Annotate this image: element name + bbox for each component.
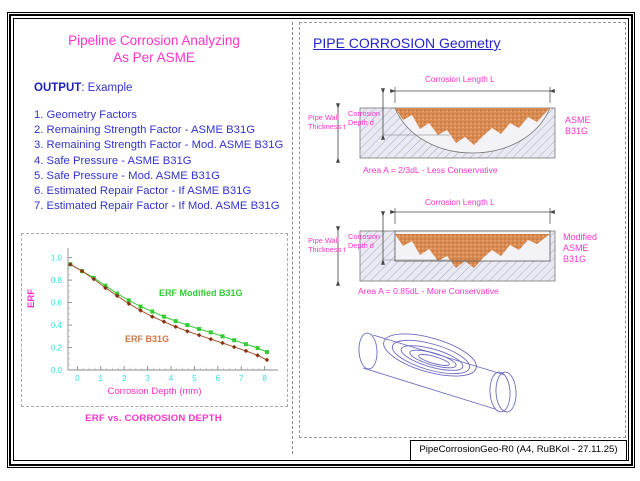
svg-text:0.4: 0.4	[51, 321, 63, 330]
svg-text:0.6: 0.6	[51, 299, 63, 308]
output-label: OUTPUT	[34, 82, 81, 94]
corrosion-length-label-2: Corrosion Length L	[425, 198, 495, 207]
standard-label-asme: ASME B31G	[565, 115, 591, 137]
svg-text:0: 0	[75, 374, 80, 383]
right-panel-title: PIPE CORROSION Geometry	[313, 35, 500, 51]
standard-label-modified-asme: Modified ASME B31G	[563, 232, 597, 265]
corrosion-depth-label-2: Corrosion Depth d	[348, 232, 380, 250]
svg-text:2: 2	[122, 374, 127, 383]
svg-text:5: 5	[192, 374, 197, 383]
chart-ylabel: ERF	[26, 289, 37, 308]
list-item: 6. Estimated Repair Factor - If ASME B31…	[34, 184, 294, 199]
output-heading: OUTPUT: Example	[34, 82, 132, 94]
page-title-line2: As Per ASME	[16, 49, 292, 66]
list-item: 7. Estimated Repair Factor - If Mod. ASM…	[34, 199, 294, 214]
svg-text:0.8: 0.8	[51, 276, 63, 285]
drawing-sheet: Pipeline Corrosion Analyzing As Per ASME…	[0, 0, 640, 481]
svg-text:3: 3	[145, 374, 150, 383]
right-panel: PIPE CORROSION Geometry	[299, 22, 626, 438]
list-item: 5. Safe Pressure - Mod. ASME B31G	[34, 169, 294, 184]
area-formula-caption-2: Area A = 0.85dL - More Conservative	[358, 286, 499, 296]
page-title: Pipeline Corrosion Analyzing As Per ASME	[16, 32, 292, 66]
chart-svg: 0.00.20.40.60.81.0012345678	[22, 234, 287, 406]
erf-chart: ERF Corrosion Depth (mm) ERF Modified B3…	[21, 233, 288, 407]
svg-text:1: 1	[99, 374, 104, 383]
title-block: PipeCorrosionGeo-R0 (A4, RuBKol - 27.11.…	[410, 440, 627, 461]
title-block-text: PipeCorrosionGeo-R0 (A4, RuBKol - 27.11.…	[411, 444, 626, 455]
svg-text:8: 8	[262, 374, 267, 383]
page-title-line1: Pipeline Corrosion Analyzing	[16, 32, 292, 49]
corrosion-length-label: Corrosion Length L	[425, 75, 495, 84]
wall-thickness-label-2: Pipe Wall Thickness t	[308, 236, 345, 254]
svg-text:0.0: 0.0	[51, 366, 63, 375]
svg-text:1.0: 1.0	[51, 254, 63, 263]
pipe-isometric-svg	[355, 313, 570, 433]
list-item: 2. Remaining Strength Factor - ASME B31G	[34, 123, 294, 138]
corrosion-depth-label: Corrosion Depth d	[348, 109, 380, 127]
corrosion-diagram-asme: Pipe Wall Thickness t Corrosion Depth d …	[300, 73, 625, 193]
left-column: Pipeline Corrosion Analyzing As Per ASME…	[16, 20, 292, 456]
series-label-b31g: ERF B31G	[125, 334, 169, 344]
svg-text:7: 7	[239, 374, 244, 383]
output-items-list: 1. Geometry Factors 2. Remaining Strengt…	[34, 108, 294, 214]
area-formula-caption: Area A = 2/3dL - Less Conservative	[363, 165, 498, 175]
chart-plot-area: ERF Corrosion Depth (mm) ERF Modified B3…	[22, 234, 287, 406]
wall-thickness-label: Pipe Wall Thickness t	[308, 113, 345, 131]
chart-xlabel: Corrosion Depth (mm)	[22, 386, 287, 397]
svg-text:0.2: 0.2	[51, 344, 63, 353]
pipe-isometric-illustration	[355, 313, 570, 433]
list-item: 3. Remaining Strength Factor - Mod. ASME…	[34, 138, 294, 153]
column-divider	[292, 22, 293, 454]
output-value: : Example	[81, 82, 132, 94]
corrosion-diagram-modified-asme: Pipe Wall Thickness t Corrosion Depth d …	[300, 198, 625, 310]
svg-text:6: 6	[216, 374, 221, 383]
chart-caption: ERF vs. CORROSION DEPTH	[21, 413, 286, 424]
series-label-modified: ERF Modified B31G	[159, 288, 237, 299]
list-item: 4. Safe Pressure - ASME B31G	[34, 154, 294, 169]
svg-text:4: 4	[169, 374, 174, 383]
list-item: 1. Geometry Factors	[34, 108, 294, 123]
